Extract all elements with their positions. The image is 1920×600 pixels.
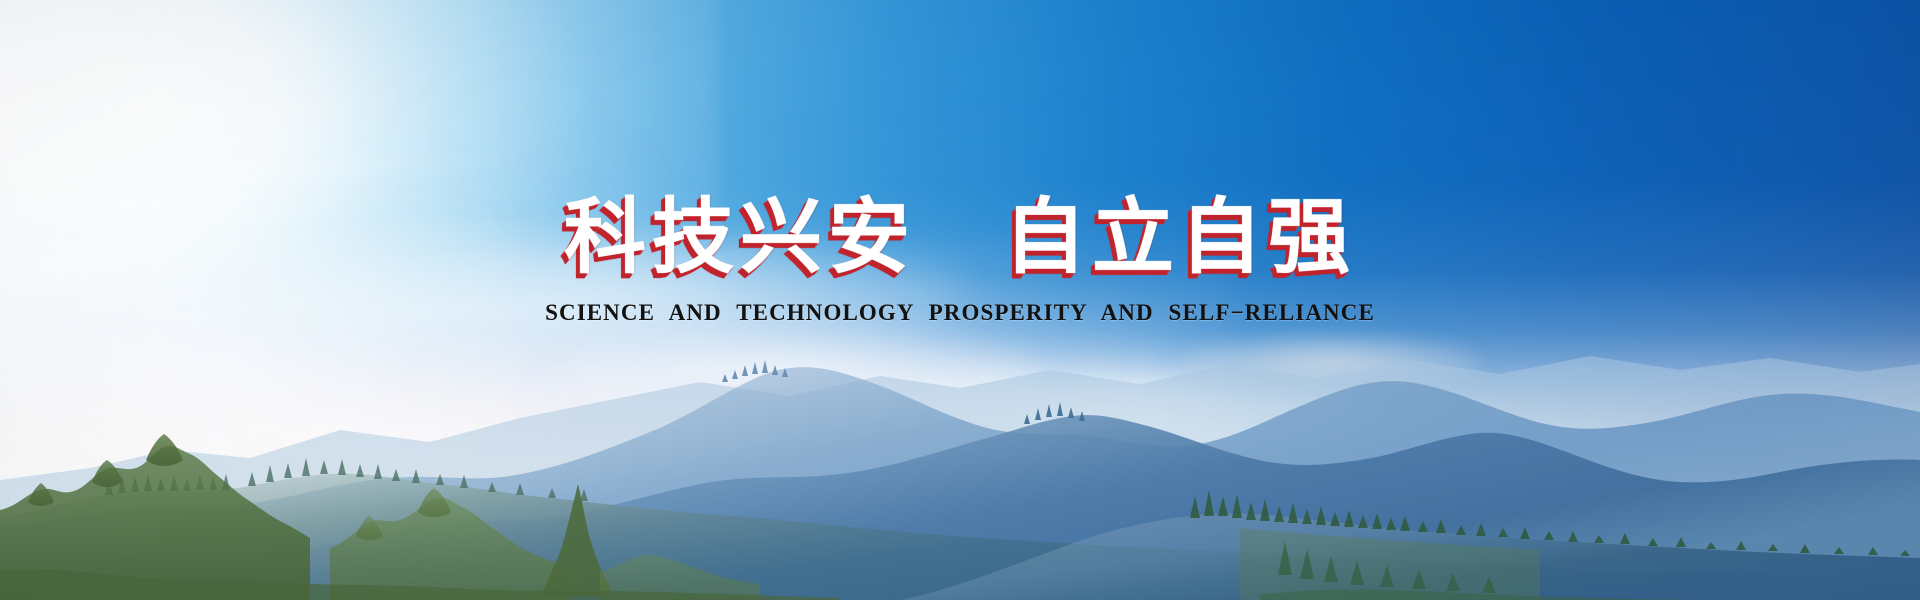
banner-subtitle-english: SCIENCE AND TECHNOLOGY PROSPERITY AND SE…: [0, 300, 1920, 326]
banner-text-block: 科技兴安 自立自强 SCIENCE AND TECHNOLOGY PROSPER…: [0, 196, 1920, 326]
hero-banner: 科技兴安 自立自强 SCIENCE AND TECHNOLOGY PROSPER…: [0, 0, 1920, 600]
banner-title-chinese: 科技兴安 自立自强: [0, 196, 1920, 280]
foreground-conifers-right: [0, 455, 1920, 600]
